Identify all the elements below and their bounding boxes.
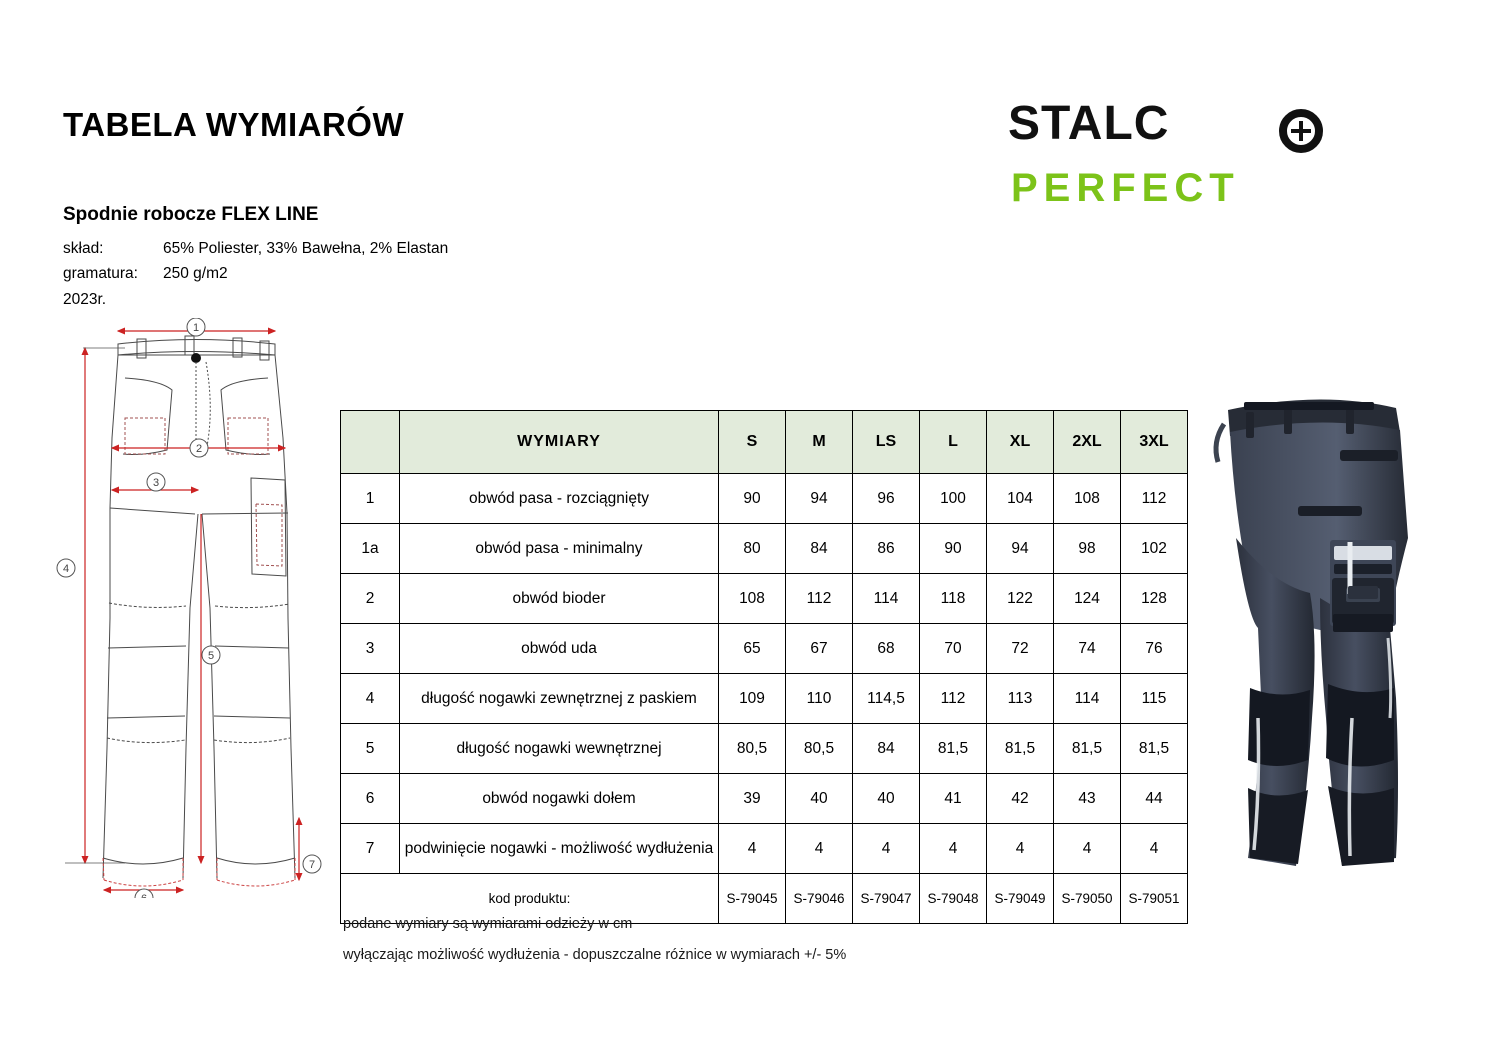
cell-value: 104 — [987, 474, 1054, 524]
svg-text:6: 6 — [141, 893, 147, 898]
svg-text:4: 4 — [63, 563, 69, 575]
weight-value: 250 g/m2 — [163, 265, 228, 283]
product-code: S-79049 — [987, 874, 1054, 924]
svg-text:5: 5 — [208, 650, 214, 662]
product-code: S-79047 — [853, 874, 920, 924]
size-chart-page: TABELA WYMIARÓW Spodnie robocze FLEX LIN… — [0, 0, 1500, 1061]
size-table: WYMIARY S M LS L XL 2XL 3XL 1 obwód pasa… — [340, 410, 1188, 924]
product-code: S-79046 — [786, 874, 853, 924]
cell-value: 4 — [853, 824, 920, 874]
cell-value: 72 — [987, 624, 1054, 674]
cell-value: 80,5 — [719, 724, 786, 774]
cell-value: 108 — [719, 574, 786, 624]
table-row: 1 obwód pasa - rozciągnięty 90 94 96 100… — [341, 474, 1188, 524]
row-label: obwód uda — [400, 624, 719, 674]
table-header-row: WYMIARY S M LS L XL 2XL 3XL — [341, 411, 1188, 474]
cell-value: 84 — [786, 524, 853, 574]
row-label: obwód pasa - minimalny — [400, 524, 719, 574]
circled-plus-icon — [1279, 109, 1323, 153]
header-dimension: WYMIARY — [400, 411, 719, 474]
product-code: S-79050 — [1054, 874, 1121, 924]
table-row: 2 obwód bioder 108 112 114 118 122 124 1… — [341, 574, 1188, 624]
product-code: S-79048 — [920, 874, 987, 924]
row-number: 2 — [341, 574, 400, 624]
row-number: 4 — [341, 674, 400, 724]
cell-value: 41 — [920, 774, 987, 824]
composition-label: skład: — [63, 240, 104, 258]
cell-value: 118 — [920, 574, 987, 624]
cell-value: 80 — [719, 524, 786, 574]
row-label: długość nogawki wewnętrznej — [400, 724, 719, 774]
table-row: 5 długość nogawki wewnętrznej 80,5 80,5 … — [341, 724, 1188, 774]
header-size-2xl: 2XL — [1054, 411, 1121, 474]
table-row: 1a obwód pasa - minimalny 80 84 86 90 94… — [341, 524, 1188, 574]
cell-value: 4 — [920, 824, 987, 874]
row-number: 3 — [341, 624, 400, 674]
cell-value: 4 — [1054, 824, 1121, 874]
cell-value: 81,5 — [1054, 724, 1121, 774]
pants-technical-drawing: 1 2 3 4 5 6 7 — [55, 318, 340, 898]
cell-value: 90 — [719, 474, 786, 524]
row-number: 6 — [341, 774, 400, 824]
row-number: 1a — [341, 524, 400, 574]
cell-value: 84 — [853, 724, 920, 774]
cell-value: 70 — [920, 624, 987, 674]
cell-value: 94 — [987, 524, 1054, 574]
cell-value: 4 — [1121, 824, 1188, 874]
cell-value: 65 — [719, 624, 786, 674]
cell-value: 4 — [786, 824, 853, 874]
header-num — [341, 411, 400, 474]
product-photo — [1200, 388, 1450, 888]
cell-value: 108 — [1054, 474, 1121, 524]
header-size-l: L — [920, 411, 987, 474]
row-label: obwód nogawki dołem — [400, 774, 719, 824]
cell-value: 81,5 — [987, 724, 1054, 774]
product-name: Spodnie robocze FLEX LINE — [63, 204, 318, 226]
cell-value: 115 — [1121, 674, 1188, 724]
row-label: obwód bioder — [400, 574, 719, 624]
cell-value: 112 — [920, 674, 987, 724]
table-row: 4 długość nogawki zewnętrznej z paskiem … — [341, 674, 1188, 724]
cell-value: 112 — [786, 574, 853, 624]
cell-value: 40 — [853, 774, 920, 824]
cell-value: 80,5 — [786, 724, 853, 774]
cell-value: 40 — [786, 774, 853, 824]
cell-value: 114 — [853, 574, 920, 624]
footnote-tolerance: wyłączając możliwość wydłużenia - dopusz… — [343, 947, 846, 963]
svg-text:2: 2 — [196, 443, 202, 455]
cell-value: 122 — [987, 574, 1054, 624]
cell-value: 44 — [1121, 774, 1188, 824]
header-size-m: M — [786, 411, 853, 474]
cell-value: 42 — [987, 774, 1054, 824]
cell-value: 74 — [1054, 624, 1121, 674]
cell-value: 128 — [1121, 574, 1188, 624]
footnote-units: podane wymiary są wymiarami odzieży w cm — [343, 916, 632, 932]
product-code: S-79045 — [719, 874, 786, 924]
row-label: długość nogawki zewnętrznej z paskiem — [400, 674, 719, 724]
cell-value: 96 — [853, 474, 920, 524]
cell-value: 98 — [1054, 524, 1121, 574]
cell-value: 4 — [719, 824, 786, 874]
table-row: 3 obwód uda 65 67 68 70 72 74 76 — [341, 624, 1188, 674]
cell-value: 67 — [786, 624, 853, 674]
row-number: 5 — [341, 724, 400, 774]
composition-value: 65% Poliester, 33% Bawełna, 2% Elastan — [163, 240, 448, 258]
svg-text:3: 3 — [153, 477, 159, 489]
cell-value: 110 — [786, 674, 853, 724]
cell-value: 81,5 — [920, 724, 987, 774]
cell-value: 100 — [920, 474, 987, 524]
cell-value: 43 — [1054, 774, 1121, 824]
brand-logo: STALC PERFECT — [1008, 100, 1318, 220]
cell-value: 109 — [719, 674, 786, 724]
logo-wordmark: STALC — [1008, 100, 1169, 148]
cell-value: 114 — [1054, 674, 1121, 724]
table-row: 6 obwód nogawki dołem 39 40 40 41 42 43 … — [341, 774, 1188, 824]
header-size-ls: LS — [853, 411, 920, 474]
year-label: 2023r. — [63, 291, 106, 309]
cell-value: 102 — [1121, 524, 1188, 574]
cell-value: 76 — [1121, 624, 1188, 674]
cell-value: 113 — [987, 674, 1054, 724]
cell-value: 114,5 — [853, 674, 920, 724]
cell-value: 86 — [853, 524, 920, 574]
cell-value: 4 — [987, 824, 1054, 874]
header-size-xl: XL — [987, 411, 1054, 474]
cell-value: 81,5 — [1121, 724, 1188, 774]
page-title: TABELA WYMIARÓW — [63, 106, 404, 144]
header-size-3xl: 3XL — [1121, 411, 1188, 474]
cell-value: 90 — [920, 524, 987, 574]
row-number: 1 — [341, 474, 400, 524]
cell-value: 39 — [719, 774, 786, 824]
product-code: S-79051 — [1121, 874, 1188, 924]
weight-label: gramatura: — [63, 265, 138, 283]
table-row: 7 podwinięcie nogawki - możliwość wydłuż… — [341, 824, 1188, 874]
cell-value: 68 — [853, 624, 920, 674]
row-label: obwód pasa - rozciągnięty — [400, 474, 719, 524]
svg-text:7: 7 — [309, 859, 315, 871]
svg-text:1: 1 — [193, 322, 199, 334]
row-number: 7 — [341, 824, 400, 874]
cell-value: 112 — [1121, 474, 1188, 524]
logo-subbrand: PERFECT — [1011, 168, 1240, 208]
cell-value: 124 — [1054, 574, 1121, 624]
cell-value: 94 — [786, 474, 853, 524]
row-label: podwinięcie nogawki - możliwość wydłużen… — [400, 824, 719, 874]
header-size-s: S — [719, 411, 786, 474]
